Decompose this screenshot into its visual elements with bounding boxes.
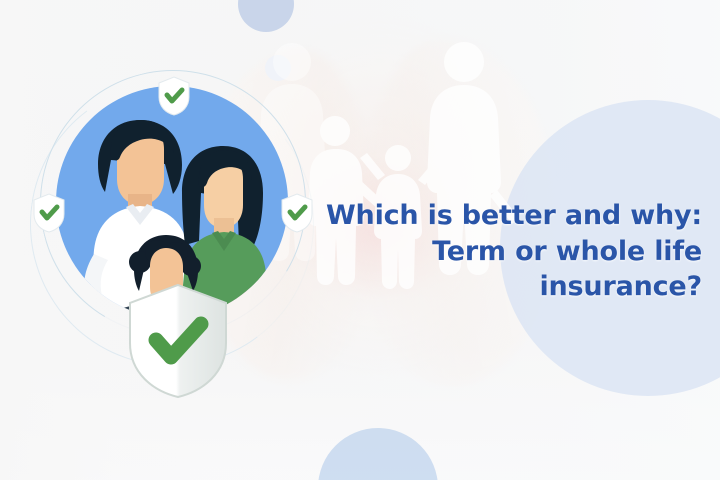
- shield-check-icon-left: [32, 193, 66, 233]
- shield-check-icon-main: [126, 282, 230, 400]
- banner-canvas: Which is better and why: Term or whole l…: [0, 0, 720, 480]
- headline-text: Which is better and why: Term or whole l…: [272, 198, 702, 305]
- shield-check-icon-top: [157, 76, 191, 116]
